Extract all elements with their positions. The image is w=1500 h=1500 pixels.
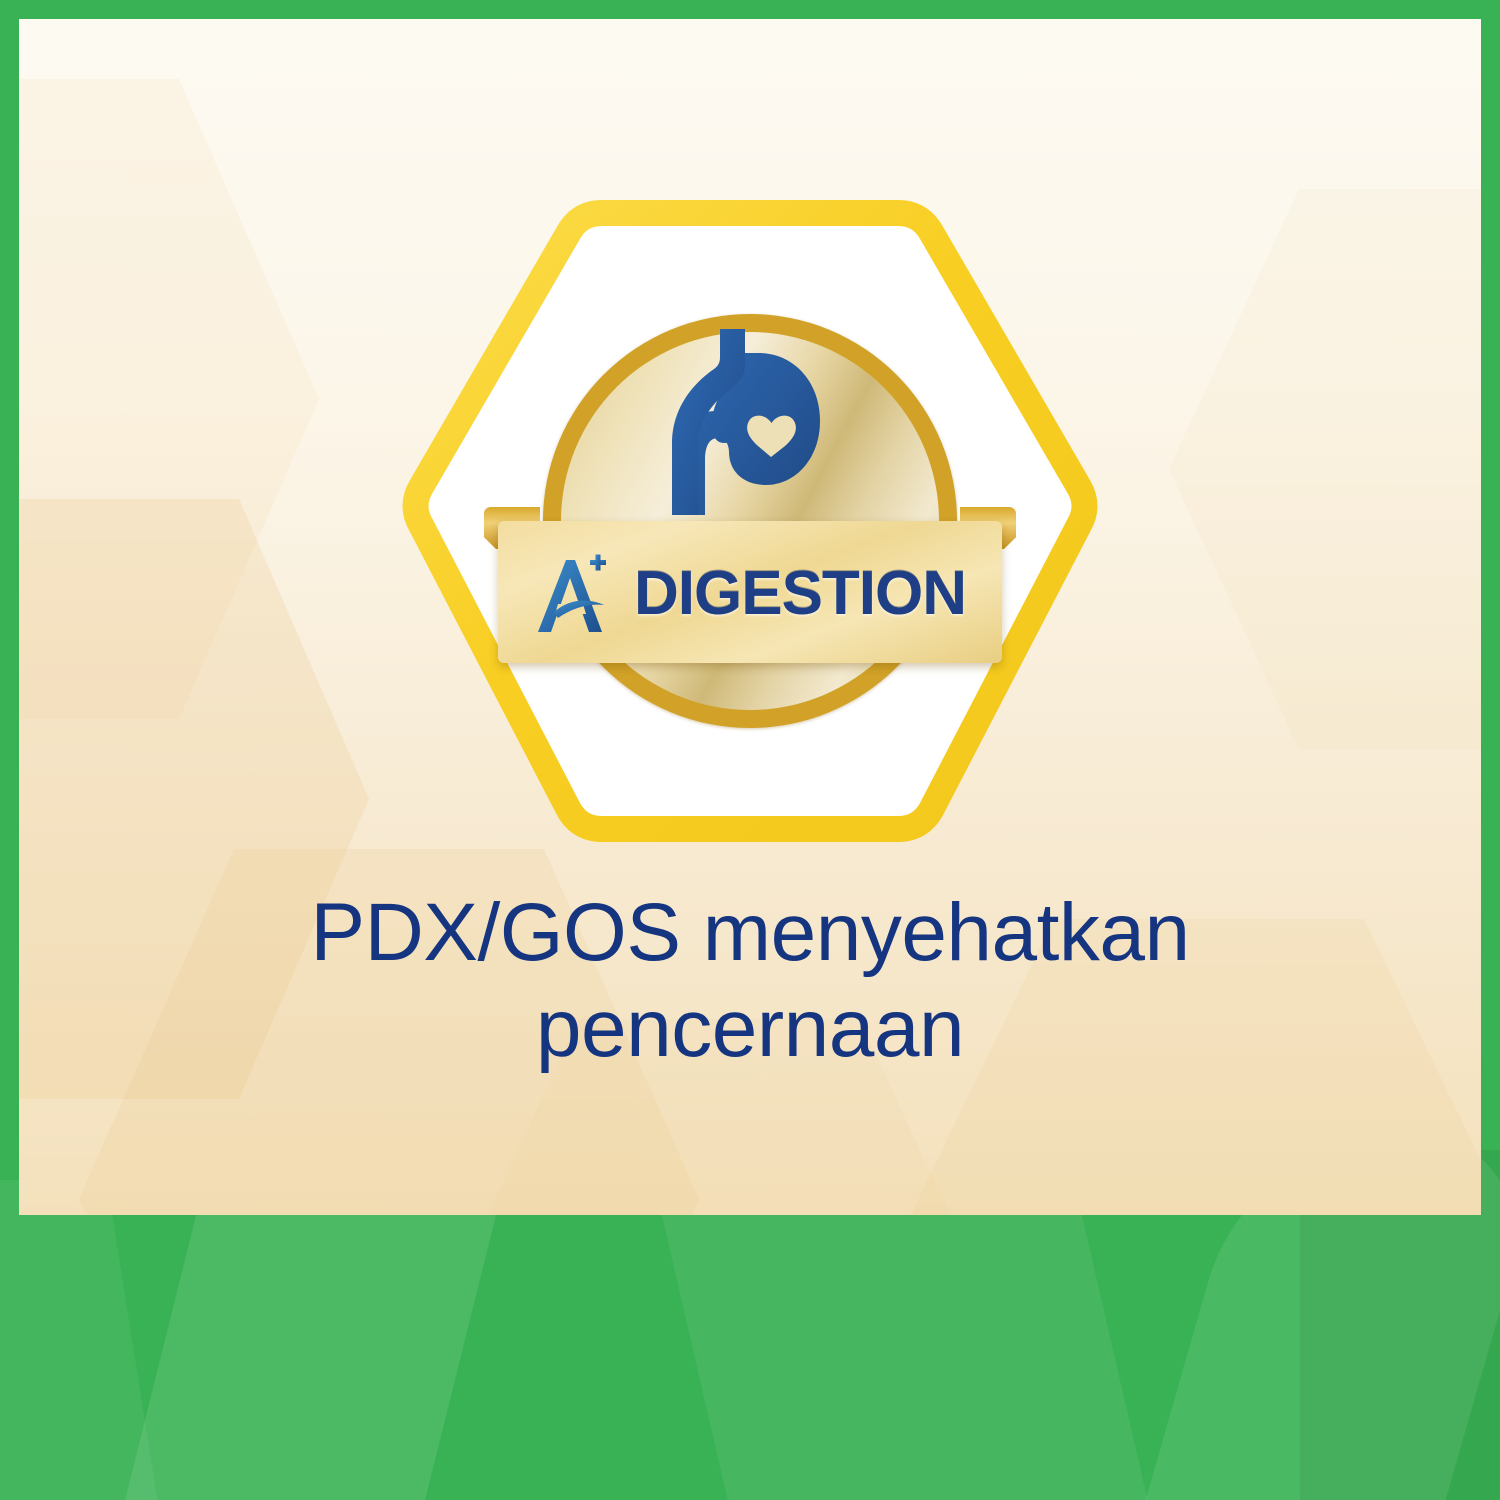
green-band-3 [0,1180,173,1500]
digestion-badge: DIGESTION [390,187,1110,855]
caption-line-2: pencernaan [79,981,1421,1077]
caption-block: PDX/GOS menyehatkan pencernaan [19,885,1481,1077]
background-hexagon-5 [1169,189,1481,749]
ribbon-body: DIGESTION [498,521,1002,663]
content-card: DIGESTION PDX/GOS menyehatkan pencernaan [19,19,1481,1215]
stomach-with-heart-icon [658,325,842,521]
ribbon-text-group: DIGESTION [516,552,984,636]
caption-line-1: PDX/GOS menyehatkan [79,885,1421,981]
badge-title: DIGESTION [634,563,966,625]
a-plus-logo-icon [534,552,612,636]
badge-ribbon: DIGESTION [484,507,1016,663]
